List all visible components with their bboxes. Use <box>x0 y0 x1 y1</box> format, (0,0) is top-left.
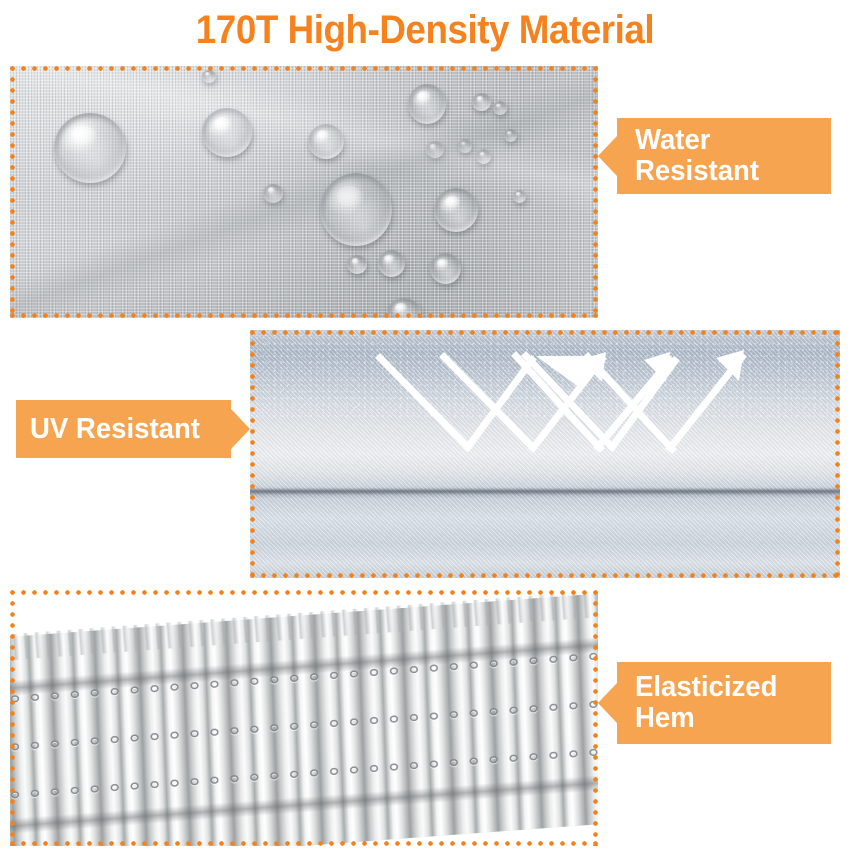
feature-photo-uv-resistant <box>250 330 840 578</box>
callout-arrow-right-icon <box>231 409 250 449</box>
uv-ray-outgoing-c <box>670 357 742 448</box>
callout-arrow-left-icon <box>598 136 617 176</box>
callout-elasticized-hem[interactable]: Elasticized Hem <box>617 662 831 744</box>
uv-ray-arrows-group <box>250 330 840 578</box>
fabric-sheen <box>10 66 598 318</box>
callout-uv-resistant[interactable]: UV Resistant <box>16 400 231 458</box>
callout-water-resistant[interactable]: Water Resistant <box>617 118 831 194</box>
page-title: 170T High-Density Material <box>34 6 816 54</box>
feature-photo-elasticized-hem <box>10 590 598 846</box>
callout-arrow-left-icon <box>598 683 617 723</box>
feature-photo-water-resistant <box>10 66 598 318</box>
callout-label: Elasticized Hem <box>635 672 777 733</box>
callout-label: Water Resistant <box>635 125 759 186</box>
infographic-canvas: 170T High-Density Material Water Resis <box>0 0 850 850</box>
callout-label: UV Resistant <box>30 414 200 445</box>
